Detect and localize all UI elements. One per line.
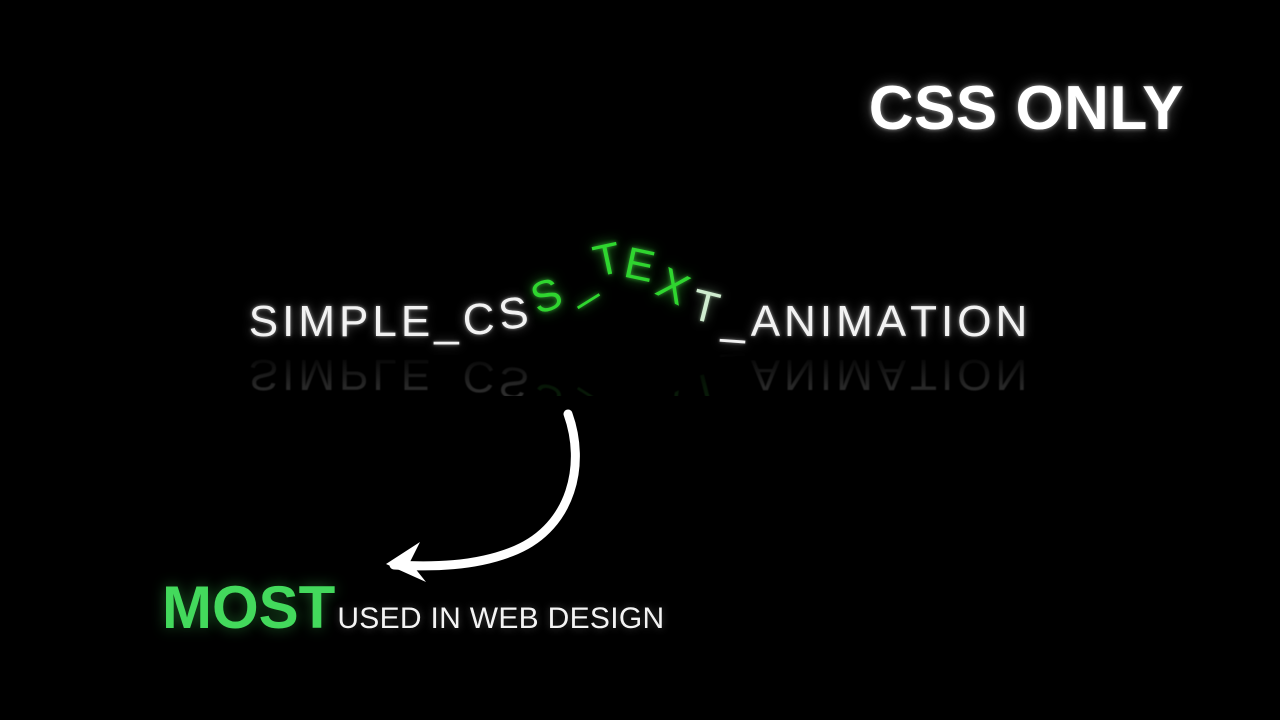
reflection-char-2: M bbox=[298, 352, 339, 396]
reflection-char-17: N bbox=[784, 352, 820, 396]
reflection-char-4: L bbox=[372, 352, 400, 396]
headline-char-23: O bbox=[957, 300, 995, 344]
headline-char-6: _ bbox=[434, 300, 462, 344]
headline-char-8: S bbox=[496, 290, 535, 338]
reflection-char-9: S bbox=[525, 374, 571, 427]
reflection-char-23: O bbox=[957, 352, 995, 396]
reflection-char-11: T bbox=[589, 411, 628, 460]
headline-char-18: I bbox=[820, 300, 836, 344]
reflection-char-8: S bbox=[496, 358, 535, 406]
headline-char-0: S bbox=[249, 300, 282, 344]
animated-headline-group: SIMPLE_CSS_TEXT_ANIMATION SIMPLE_CSS_TEX… bbox=[0, 300, 1280, 440]
headline-char-1: I bbox=[282, 300, 298, 344]
reflection-char-18: I bbox=[820, 352, 836, 396]
reflection-char-12: E bbox=[620, 405, 662, 455]
headline-char-24: N bbox=[995, 300, 1031, 344]
reflection-char-20: A bbox=[877, 352, 910, 396]
headline-char-12: E bbox=[620, 241, 662, 291]
headline-char-21: T bbox=[910, 300, 941, 344]
headline-char-20: A bbox=[877, 300, 910, 344]
css-only-badge: CSS ONLY bbox=[869, 78, 1184, 140]
headline-char-22: I bbox=[941, 300, 957, 344]
reflection-char-15: _ bbox=[721, 353, 752, 399]
slide-canvas: CSS ONLY SIMPLE_CSS_TEXT_ANIMATION SIMPL… bbox=[0, 0, 1280, 720]
reflection-char-24: N bbox=[995, 352, 1031, 396]
reflection-char-14: T bbox=[686, 363, 727, 413]
reflection-char-1: I bbox=[282, 352, 298, 396]
headline-char-5: E bbox=[401, 300, 434, 344]
headline-char-2: M bbox=[298, 300, 339, 344]
animated-headline-text: SIMPLE_CSS_TEXT_ANIMATION bbox=[249, 300, 1031, 344]
reflection-char-3: P bbox=[339, 352, 372, 396]
reflection-char-0: S bbox=[249, 352, 282, 396]
reflection-char-10: _ bbox=[556, 388, 603, 440]
reflection-char-16: A bbox=[751, 352, 784, 396]
reflection-char-6: _ bbox=[434, 352, 462, 396]
reflection-char-5: E bbox=[401, 352, 434, 396]
headline-char-19: M bbox=[836, 300, 877, 344]
headline-char-3: P bbox=[339, 300, 372, 344]
bottom-caption: MOST USED IN WEB DESIGN bbox=[162, 578, 664, 638]
headline-char-17: N bbox=[784, 300, 820, 344]
reflection-char-19: M bbox=[836, 352, 877, 396]
reflection-char-13: X bbox=[650, 381, 699, 435]
headline-reflection: SIMPLE_CSS_TEXT_ANIMATION bbox=[249, 352, 1031, 396]
headline-char-4: L bbox=[372, 300, 400, 344]
caption-emphasis: MOST bbox=[162, 578, 335, 638]
arrow-head bbox=[386, 542, 426, 582]
reflection-char-22: I bbox=[941, 352, 957, 396]
headline-char-16: A bbox=[751, 300, 784, 344]
headline-char-7: C bbox=[462, 297, 499, 342]
headline-char-15: _ bbox=[721, 297, 752, 343]
reflection-char-7: C bbox=[462, 353, 499, 398]
caption-rest: USED IN WEB DESIGN bbox=[337, 604, 664, 634]
reflection-char-21: T bbox=[910, 352, 941, 396]
